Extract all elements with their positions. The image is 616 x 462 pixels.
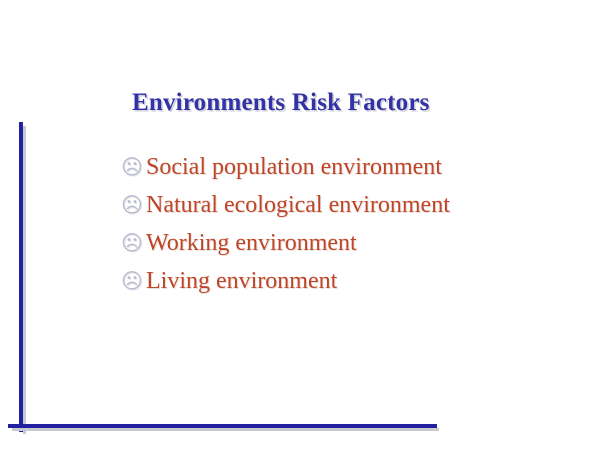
- horizontal-axis-shadow: [12, 428, 439, 431]
- vertical-axis-shadow: [23, 126, 26, 434]
- sad-face-bullet-icon: ☹: [121, 157, 146, 178]
- list-item-label: Natural ecological environment: [146, 193, 450, 217]
- horizontal-axis-line: [8, 424, 437, 428]
- sad-face-bullet-icon: ☹: [121, 233, 146, 254]
- list-item-label: Working environment: [146, 231, 357, 255]
- list-item-label: Social population environment: [146, 155, 442, 179]
- sad-face-bullet-icon: ☹: [121, 195, 146, 216]
- slide-canvas: Environments Risk Factors ☹ Social popul…: [0, 0, 616, 462]
- bullet-list: ☹ Social population environment ☹ Natura…: [121, 155, 581, 307]
- list-item: ☹ Natural ecological environment: [121, 193, 581, 231]
- page-title: Environments Risk Factors: [132, 89, 430, 117]
- list-item: ☹ Living environment: [121, 269, 581, 307]
- list-item: ☹ Working environment: [121, 231, 581, 269]
- list-item-label: Living environment: [146, 269, 337, 293]
- list-item: ☹ Social population environment: [121, 155, 581, 193]
- sad-face-bullet-icon: ☹: [121, 271, 146, 292]
- vertical-axis-line: [19, 122, 23, 432]
